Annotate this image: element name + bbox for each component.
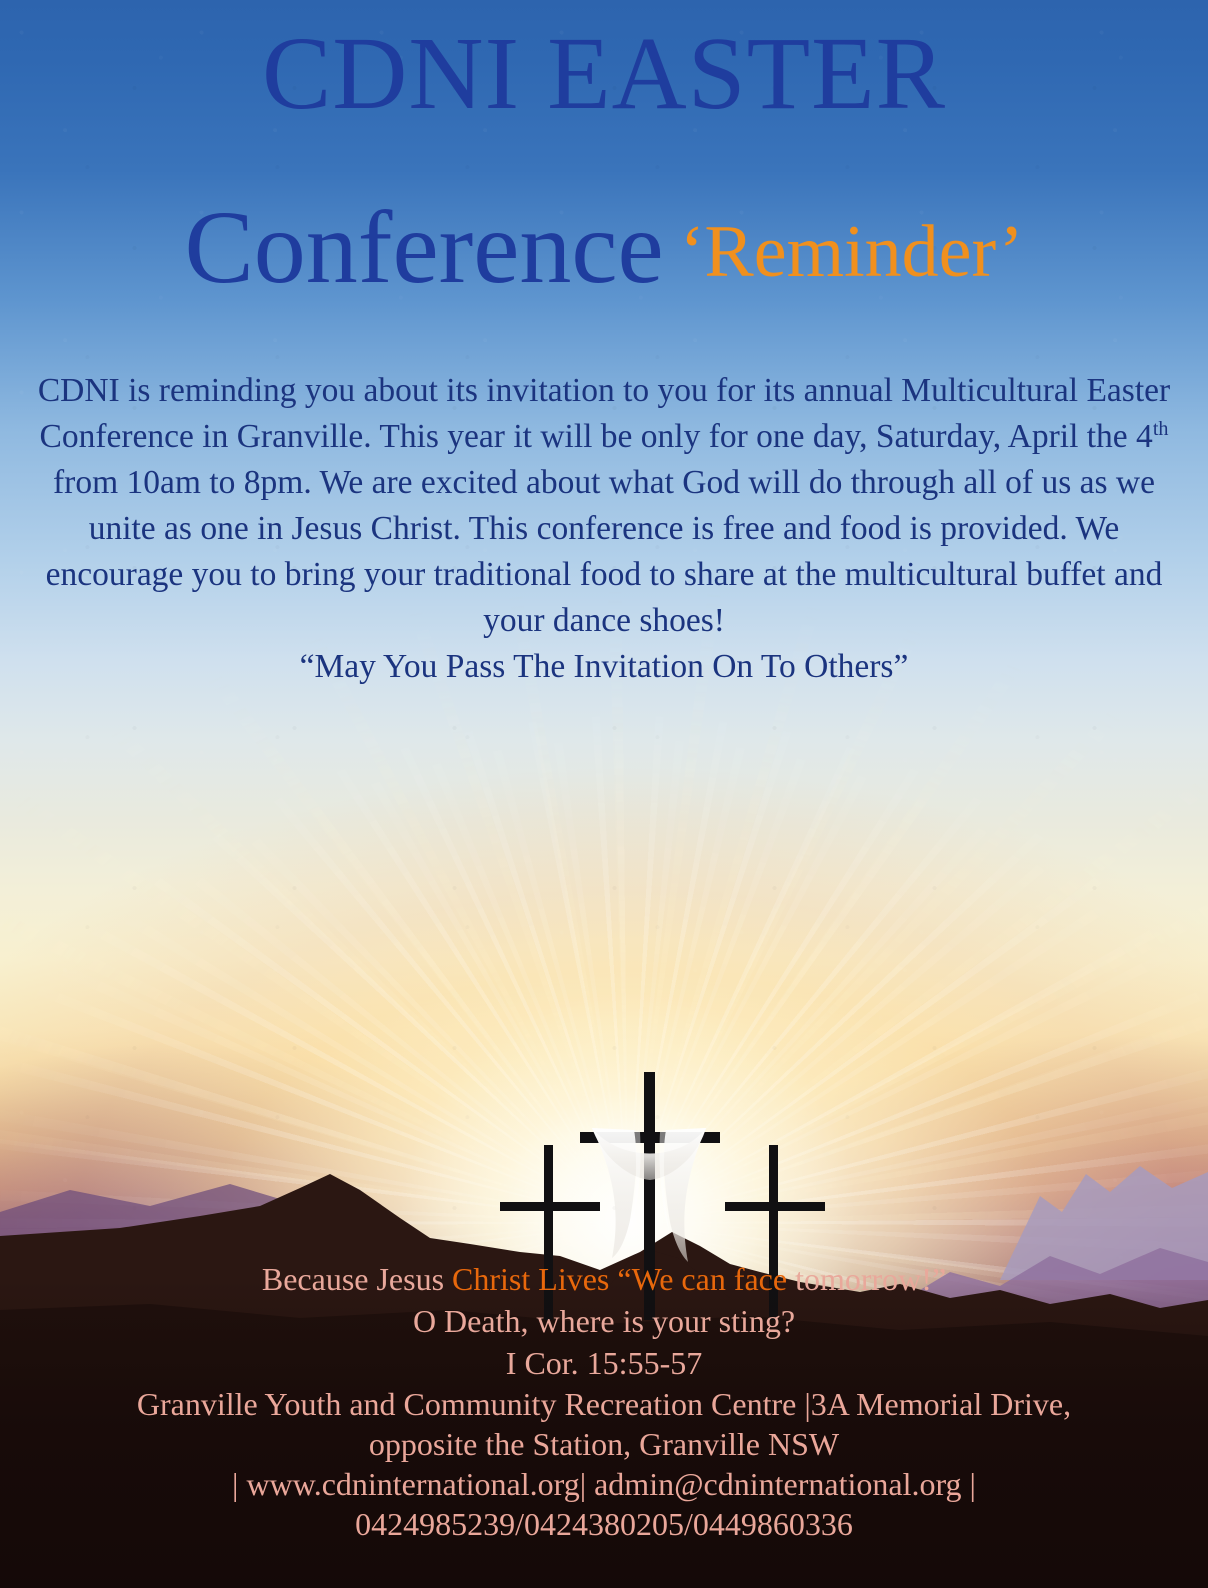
sunrise-warm-glow [0,0,1208,1588]
bottom-vignette [0,0,1208,1588]
white-shroud-cloth [580,1122,720,1262]
verse-line1-highlight-christ-lives: Christ Lives [452,1261,617,1297]
paragraph-part-two: from 10am to 8pm. We are excited about w… [46,464,1163,639]
verse-line1-open-quote: “ [617,1261,631,1297]
paper-texture-overlay [0,0,1208,1588]
sunburst-rays-secondary [0,0,1208,1588]
verse-line1-pre: Because Jesus [262,1261,452,1297]
right-purple-haze [0,0,1208,1588]
right-cross [725,1145,825,1320]
left-purple-haze [0,0,1208,1588]
website-email-line[interactable]: | www.cdninternational.org| admin@cdnint… [6,1464,1202,1504]
paragraph-part-one: CDNI is reminding you about its invitati… [38,372,1170,455]
easter-conference-flyer: CDNI EASTER Conference‘Reminder’ CDNI is… [0,0,1208,1588]
venue-address-line: opposite the Station, Granville NSW [6,1424,1202,1464]
foreground-dark-mountains [0,1160,1208,1588]
center-cross-mound [0,1228,1208,1298]
sky-gradient-background [0,0,1208,1588]
verse-line-1: Because Jesus Christ Lives “We can face … [0,1258,1208,1300]
center-cross [580,1072,720,1320]
scripture-verse-block: Because Jesus Christ Lives “We can face … [0,1258,1208,1384]
sun-core-glow [0,0,1208,1588]
verse-line1-post: tomorrow!” [787,1261,946,1297]
invitation-tagline: “May You Pass The Invitation On To Other… [18,644,1190,690]
venue-line: Granville Youth and Community Recreation… [6,1384,1202,1424]
invitation-paragraph: CDNI is reminding you about its invitati… [18,368,1190,690]
far-right-mountain-ridge [0,1100,1208,1280]
verse-line-2: O Death, where is your sting? [0,1300,1208,1342]
phone-numbers-line[interactable]: 0424985239/0424380205/0449860336 [6,1504,1202,1544]
page-title-line1: CDNI EASTER [0,18,1208,130]
verse-line1-highlight-we-can-face: We can face [632,1261,788,1297]
venue-and-contact-block: Granville Youth and Community Recreation… [6,1384,1202,1544]
verse-reference: I Cor. 15:55-57 [0,1342,1208,1384]
page-title-main: Conference [184,190,663,305]
page-title-reminder-accent: ‘Reminder’ [680,211,1024,293]
left-cross [500,1145,600,1320]
page-title-line2: Conference‘Reminder’ [0,192,1208,308]
sunburst-rays [0,0,1208,1588]
date-ordinal-suffix: th [1153,418,1169,440]
right-purple-mountain [0,1152,1208,1412]
left-purple-ridge [0,1128,1208,1318]
